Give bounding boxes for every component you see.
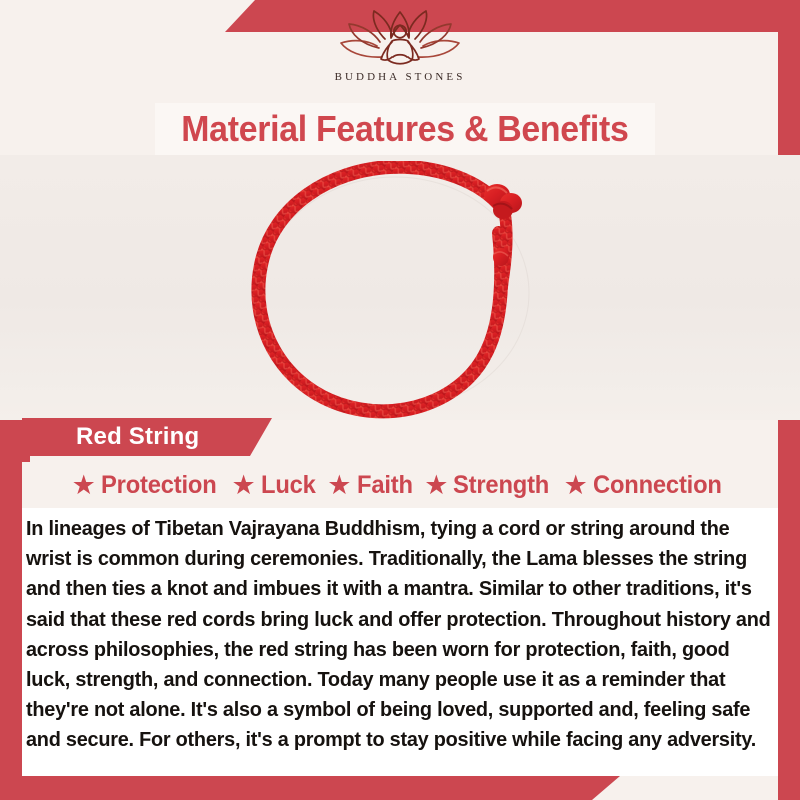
lotus-meditation-icon — [335, 8, 465, 70]
benefit-item-strength: ★ Strength — [424, 471, 554, 500]
material-tag-banner: Red String — [22, 418, 272, 456]
star-icon: ★ — [327, 472, 351, 499]
star-icon: ★ — [564, 472, 588, 499]
benefit-label: Strength — [453, 471, 549, 500]
star-icon: ★ — [72, 472, 96, 499]
benefit-label: Connection — [593, 471, 722, 500]
description-card: In lineages of Tibetan Vajrayana Buddhis… — [22, 508, 778, 776]
benefit-label: Faith — [357, 471, 413, 500]
star-icon: ★ — [232, 472, 256, 499]
benefit-label: Luck — [261, 471, 316, 500]
star-icon: ★ — [424, 472, 448, 499]
benefit-label: Protection — [101, 471, 217, 500]
benefits-row: ★ Protection ★ Luck ★ Faith ★ Strength ★… — [22, 462, 778, 508]
material-tag-label: Red String — [76, 423, 199, 451]
frame-band-bottom — [0, 776, 620, 800]
benefit-item-connection: ★ Connection — [564, 471, 729, 500]
page-title: Material Features & Benefits — [181, 108, 628, 150]
brand-header: BUDDHA STONES — [0, 8, 800, 100]
brand-name: BUDDHA STONES — [335, 71, 466, 83]
title-banner: Material Features & Benefits — [155, 103, 655, 155]
benefit-item-protection: ★ Protection — [72, 471, 223, 500]
benefit-item-faith: ★ Faith — [327, 471, 415, 500]
infographic-page: BUDDHA STONES Material Features & Benefi… — [0, 0, 800, 800]
red-string-bracelet-image — [235, 161, 565, 419]
hero-product-area — [0, 155, 800, 420]
benefit-item-luck: ★ Luck — [232, 471, 319, 500]
description-text: In lineages of Tibetan Vajrayana Buddhis… — [26, 514, 774, 756]
